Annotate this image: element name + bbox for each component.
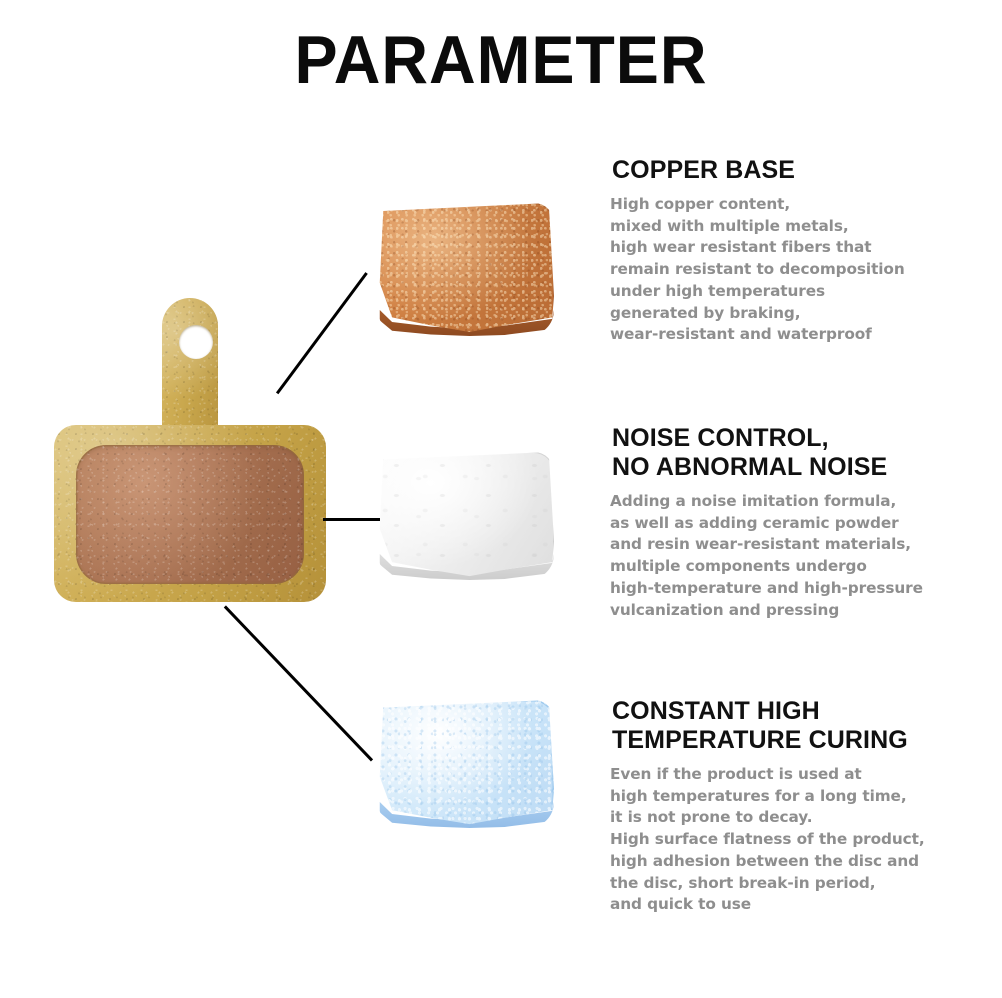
tab-grain-texture bbox=[162, 298, 218, 443]
feature-body-noise-control: Adding a noise imitation formula, as wel… bbox=[610, 491, 990, 621]
feature-block-constant-high-temperature-curing: CONSTANT HIGH TEMPERATURE CURING Even if… bbox=[610, 697, 990, 916]
ceramic-layer-swatch bbox=[378, 452, 554, 580]
brake-pad-mounting-hole bbox=[179, 325, 213, 359]
feature-heading-noise-control: NOISE CONTROL, NO ABNORMAL NOISE bbox=[612, 424, 990, 482]
friction-surface-grain-texture bbox=[76, 445, 304, 584]
ceramic-layer-grain-texture bbox=[378, 452, 554, 580]
copper-layer-swatch bbox=[378, 203, 554, 336]
brake-pad-friction-surface bbox=[76, 445, 304, 584]
brake-pad-backing-plate bbox=[54, 425, 326, 602]
brake-pad-mounting-tab bbox=[162, 298, 218, 443]
feature-body-constant-high-temperature-curing: Even if the product is used at high temp… bbox=[610, 764, 990, 916]
feature-block-noise-control: NOISE CONTROL, NO ABNORMAL NOISE Adding … bbox=[610, 424, 990, 621]
ceramic-layer-top-face bbox=[378, 452, 554, 580]
copper-layer-grain-texture bbox=[378, 203, 554, 336]
feature-heading-copper-base: COPPER BASE bbox=[612, 156, 990, 185]
infographic-page: PARAMETER bbox=[0, 0, 1002, 998]
feature-body-copper-base: High copper content, mixed with multiple… bbox=[610, 194, 990, 346]
feature-block-copper-base: COPPER BASE High copper content, mixed w… bbox=[610, 156, 990, 346]
blue-cured-layer-swatch bbox=[378, 700, 554, 828]
feature-heading-constant-high-temperature-curing: CONSTANT HIGH TEMPERATURE CURING bbox=[612, 697, 990, 755]
page-title: PARAMETER bbox=[25, 26, 977, 94]
copper-layer-top-face bbox=[378, 203, 554, 336]
blue-layer-grain-texture bbox=[378, 700, 554, 828]
connector-line-blue bbox=[224, 605, 373, 761]
blue-layer-top-face bbox=[378, 700, 554, 828]
brake-pad-product-image bbox=[52, 298, 328, 606]
connector-line-ceramic bbox=[323, 518, 380, 521]
